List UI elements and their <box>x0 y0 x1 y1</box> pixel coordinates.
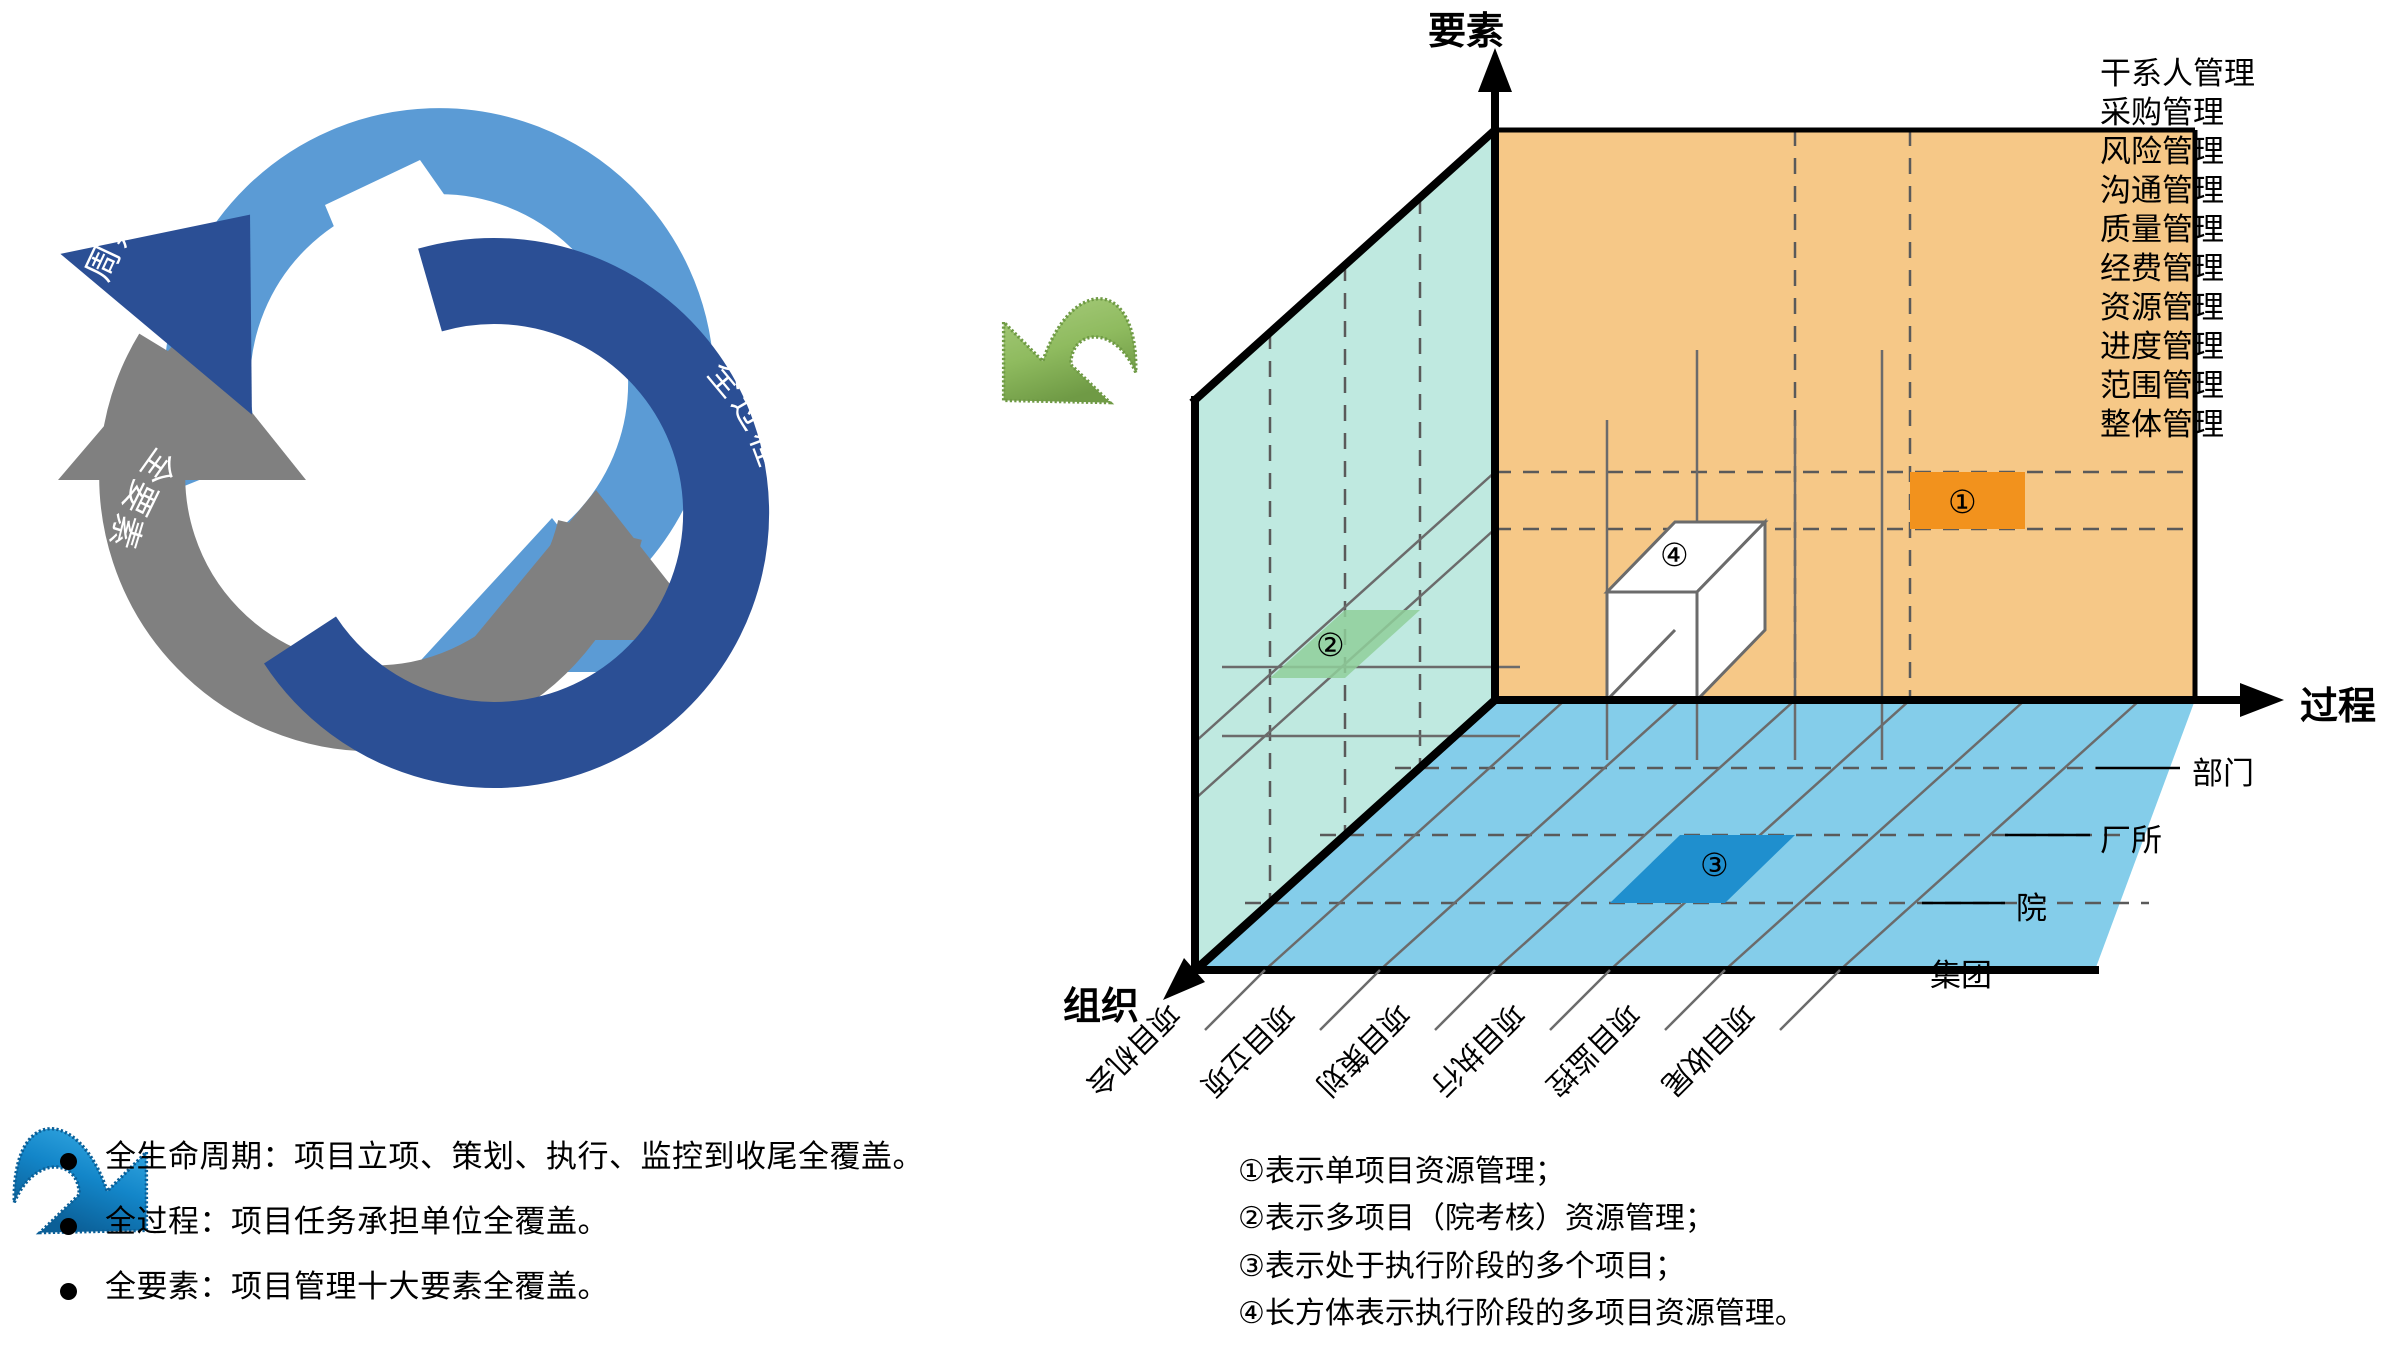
org-axis-label-department: 部门 <box>2192 748 2254 793</box>
element-axis-label: 整体管理 <box>2100 405 2255 444</box>
element-axis-label-list: 干系人管理 采购管理 风险管理 沟通管理 质量管理 经费管理 资源管理 进度管理… <box>2100 54 2255 444</box>
cube-cell-3-label: ③ <box>1700 846 1729 884</box>
cube-legend-list: ①表示单项目资源管理； ②表示多项目（院考核）资源管理； ③表示处于执行阶段的多… <box>1238 1148 2038 1338</box>
legend-item: ②表示多项目（院考核）资源管理； <box>1238 1195 2038 1242</box>
legend-item: ④长方体表示执行阶段的多项目资源管理。 <box>1238 1290 2038 1337</box>
element-axis-label: 风险管理 <box>2100 132 2255 171</box>
cube-cell-4-label: ④ <box>1660 536 1689 574</box>
list-item: 全生命周期：项目立项、策划、执行、监控到收尾全覆盖。 <box>60 1138 1120 1177</box>
axis-title-organisation: 组织 <box>1063 975 1139 1030</box>
cube-cell-1-label: ① <box>1948 483 1977 521</box>
element-axis-label: 干系人管理 <box>2100 54 2255 93</box>
element-axis-label: 范围管理 <box>2100 366 2255 405</box>
org-axis-label-group: 集团 <box>1930 950 1992 995</box>
element-axis-label: 进度管理 <box>2100 327 2255 366</box>
org-axis-label-factory: 厂所 <box>2100 815 2162 860</box>
axis-title-elements: 要素 <box>1428 0 1504 55</box>
element-axis-label: 质量管理 <box>2100 210 2255 249</box>
diagram-canvas: 全生命周期 全过程 全要素 <box>0 0 2392 1355</box>
summary-bullet-list: 全生命周期：项目立项、策划、执行、监控到收尾全覆盖。 全过程：项目任务承担单位全… <box>60 1138 1120 1332</box>
axis-title-process: 过程 <box>2300 675 2376 730</box>
org-axis-label-institute: 院 <box>2016 883 2047 928</box>
bullet-text: 全过程：项目任务承担单位全覆盖。 <box>105 1203 609 1242</box>
curved-arrow-up-left-icon <box>1004 299 1136 403</box>
element-axis-label: 资源管理 <box>2100 288 2255 327</box>
bullet-text: 全生命周期：项目立项、策划、执行、监控到收尾全覆盖。 <box>105 1138 924 1177</box>
cube-front-wall <box>1495 130 2195 700</box>
list-item: 全要素：项目管理十大要素全覆盖。 <box>60 1268 1120 1307</box>
bullet-dot-icon <box>60 1153 77 1170</box>
list-item: 全过程：项目任务承担单位全覆盖。 <box>60 1203 1120 1242</box>
bullet-dot-icon <box>60 1283 77 1300</box>
element-axis-label: 沟通管理 <box>2100 171 2255 210</box>
bullet-dot-icon <box>60 1218 77 1235</box>
legend-item: ③表示处于执行阶段的多个项目； <box>1238 1243 2038 1290</box>
bullet-text: 全要素：项目管理十大要素全覆盖。 <box>105 1268 609 1307</box>
element-axis-label: 经费管理 <box>2100 249 2255 288</box>
cube-cell-2-label: ② <box>1316 626 1345 664</box>
legend-item: ①表示单项目资源管理； <box>1238 1148 2038 1195</box>
element-axis-label: 采购管理 <box>2100 93 2255 132</box>
